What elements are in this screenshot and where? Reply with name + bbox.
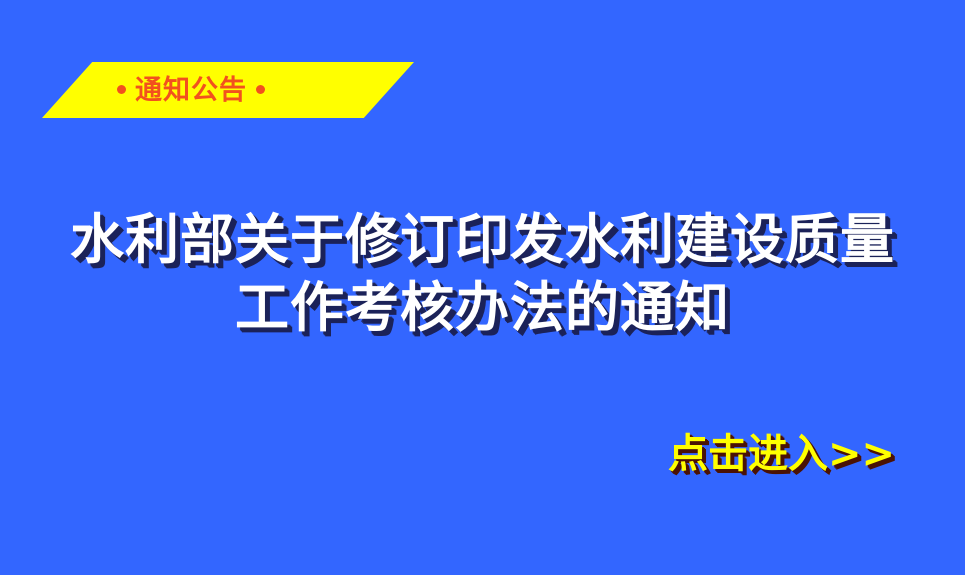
headline: 水利部关于修订印发水利建设质量 工作考核办法的通知 (0, 206, 965, 342)
category-ribbon[interactable]: 通知公告 (42, 62, 414, 118)
ribbon-label-text: 通知公告 (135, 75, 247, 106)
ribbon-label: 通知公告 (108, 77, 274, 104)
notice-banner-slide: 通知公告 水利部关于修订印发水利建设质量 工作考核办法的通知 点击进入>> (0, 0, 965, 575)
ribbon-content: 通知公告 (42, 62, 414, 118)
headline-line-2: 工作考核办法的通知 (0, 274, 965, 342)
enter-link-container: 点击进入>> (0, 430, 965, 478)
headline-line-1: 水利部关于修订印发水利建设质量 (0, 206, 965, 274)
enter-link[interactable]: 点击进入>> (668, 430, 895, 478)
bullet-dot-left-icon (117, 85, 126, 94)
bullet-dot-right-icon (256, 85, 265, 94)
